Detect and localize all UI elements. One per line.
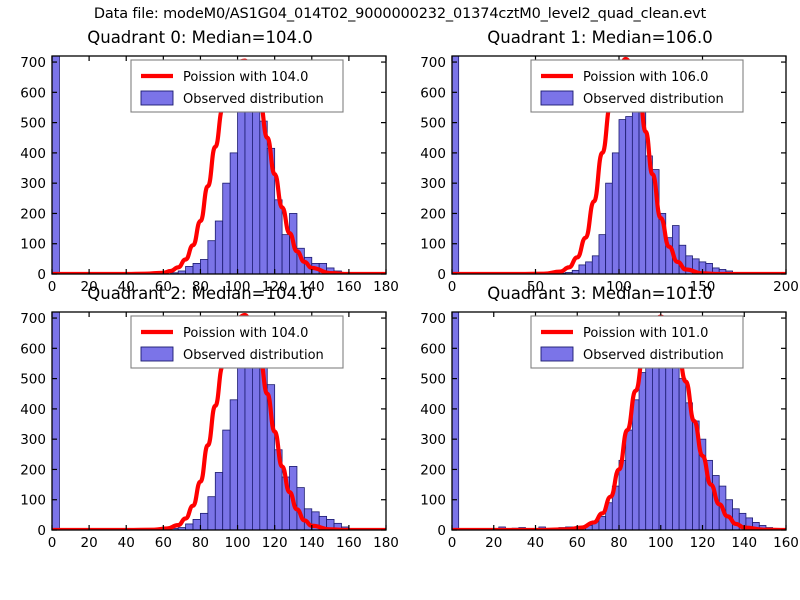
legend-patch-swatch bbox=[541, 347, 573, 361]
y-tick-label: 0 bbox=[437, 267, 446, 283]
y-tick-label: 700 bbox=[420, 55, 446, 71]
plot-area-2: 0204060801001201401601800100200300400500… bbox=[0, 282, 400, 568]
x-tick-label: 160 bbox=[336, 535, 362, 551]
x-tick-label: 80 bbox=[192, 535, 209, 551]
x-tick-label: 120 bbox=[690, 535, 716, 551]
y-tick-label: 100 bbox=[20, 237, 46, 253]
subplot-panel-0: Quadrant 0: Median=104.00204060801001201… bbox=[0, 26, 400, 312]
y-tick-label: 600 bbox=[420, 341, 446, 357]
plot-area-1: 0501001502000100200300400500600700Poissi… bbox=[400, 26, 800, 312]
y-tick-label: 200 bbox=[420, 206, 446, 222]
y-tick-label: 300 bbox=[420, 432, 446, 448]
plot-area-3: 0204060801001201401600100200300400500600… bbox=[400, 282, 800, 568]
x-tick-label: 180 bbox=[373, 535, 399, 551]
y-tick-label: 300 bbox=[20, 176, 46, 192]
x-tick-label: 60 bbox=[155, 535, 172, 551]
subplot-panel-1: Quadrant 1: Median=106.00501001502000100… bbox=[400, 26, 800, 312]
y-tick-label: 600 bbox=[20, 85, 46, 101]
x-tick-label: 20 bbox=[81, 535, 98, 551]
x-tick-label: 40 bbox=[118, 535, 135, 551]
y-tick-label: 0 bbox=[37, 523, 46, 539]
y-tick-label: 200 bbox=[420, 462, 446, 478]
y-tick-label: 200 bbox=[20, 206, 46, 222]
y-tick-label: 500 bbox=[20, 372, 46, 388]
y-tick-label: 700 bbox=[20, 311, 46, 327]
y-tick-label: 500 bbox=[420, 372, 446, 388]
y-tick-label: 700 bbox=[20, 55, 46, 71]
legend-label: Poission with 101.0 bbox=[583, 326, 708, 341]
y-tick-label: 700 bbox=[420, 311, 446, 327]
y-tick-label: 500 bbox=[420, 116, 446, 132]
y-tick-label: 0 bbox=[437, 523, 446, 539]
y-tick-label: 400 bbox=[20, 146, 46, 162]
x-tick-label: 140 bbox=[299, 535, 325, 551]
y-tick-label: 200 bbox=[20, 462, 46, 478]
x-tick-label: 160 bbox=[773, 535, 799, 551]
legend-patch-swatch bbox=[541, 91, 573, 105]
y-tick-label: 100 bbox=[20, 493, 46, 509]
legend: Poission with 104.0Observed distribution bbox=[131, 316, 343, 368]
subplot-panel-3: Quadrant 3: Median=101.00204060801001201… bbox=[400, 282, 800, 568]
x-tick-label: 140 bbox=[731, 535, 757, 551]
y-tick-label: 500 bbox=[20, 116, 46, 132]
y-tick-label: 400 bbox=[420, 402, 446, 418]
legend: Poission with 106.0Observed distribution bbox=[531, 60, 743, 112]
legend-patch-swatch bbox=[141, 347, 173, 361]
figure-canvas: Data file: modeM0/AS1G04_014T02_90000002… bbox=[0, 0, 800, 600]
x-tick-label: 20 bbox=[485, 535, 502, 551]
legend-label: Poission with 106.0 bbox=[583, 70, 708, 85]
legend-label: Observed distribution bbox=[183, 92, 324, 107]
y-tick-label: 0 bbox=[37, 267, 46, 283]
x-tick-label: 40 bbox=[527, 535, 544, 551]
subplot-panel-2: Quadrant 2: Median=104.00204060801001201… bbox=[0, 282, 400, 568]
legend-label: Observed distribution bbox=[583, 92, 724, 107]
legend-label: Observed distribution bbox=[183, 348, 324, 363]
x-tick-label: 0 bbox=[448, 535, 457, 551]
x-tick-label: 120 bbox=[262, 535, 288, 551]
figure-suptitle: Data file: modeM0/AS1G04_014T02_90000002… bbox=[0, 6, 800, 22]
legend-label: Poission with 104.0 bbox=[183, 70, 308, 85]
plot-area-0: 0204060801001201401601800100200300400500… bbox=[0, 26, 400, 312]
legend-label: Poission with 104.0 bbox=[183, 326, 308, 341]
y-tick-label: 400 bbox=[420, 146, 446, 162]
x-tick-label: 100 bbox=[225, 535, 251, 551]
y-tick-label: 100 bbox=[420, 237, 446, 253]
y-tick-label: 400 bbox=[20, 402, 46, 418]
legend-patch-swatch bbox=[141, 91, 173, 105]
x-tick-label: 80 bbox=[610, 535, 627, 551]
x-tick-label: 60 bbox=[569, 535, 586, 551]
y-tick-label: 300 bbox=[420, 176, 446, 192]
y-tick-label: 600 bbox=[20, 341, 46, 357]
y-tick-label: 600 bbox=[420, 85, 446, 101]
x-tick-label: 0 bbox=[48, 535, 57, 551]
y-tick-label: 300 bbox=[20, 432, 46, 448]
legend: Poission with 101.0Observed distribution bbox=[531, 316, 743, 368]
legend: Poission with 104.0Observed distribution bbox=[131, 60, 343, 112]
legend-label: Observed distribution bbox=[583, 348, 724, 363]
y-tick-label: 100 bbox=[420, 493, 446, 509]
x-tick-label: 100 bbox=[648, 535, 674, 551]
